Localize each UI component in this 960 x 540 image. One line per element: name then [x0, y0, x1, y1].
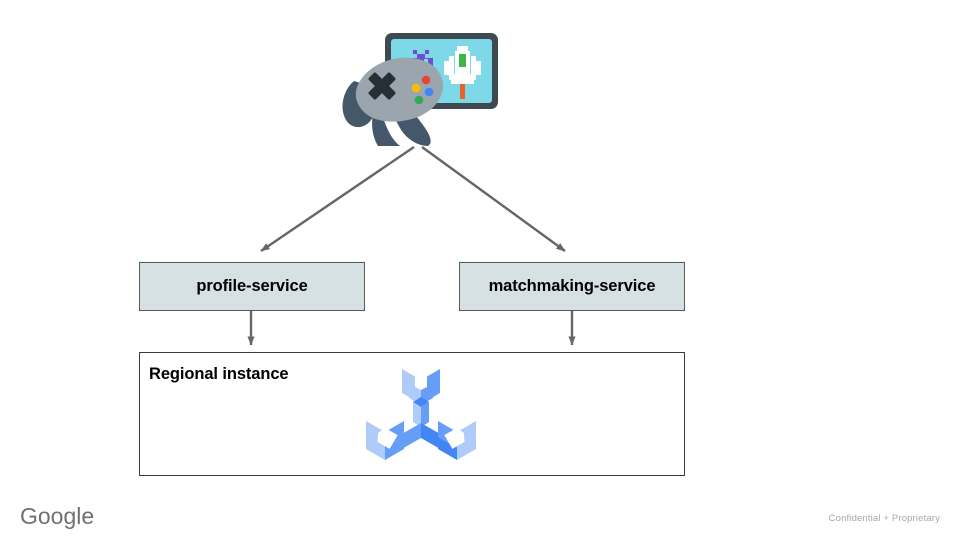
- button-blue: [425, 88, 434, 97]
- google-wordmark: Google: [20, 505, 94, 528]
- edge-game-client-to-profile-service: [261, 147, 414, 251]
- regional-instance-label: Regional instance: [149, 365, 289, 384]
- button-green: [415, 96, 424, 105]
- matchmaking-service-label: matchmaking-service: [489, 277, 656, 296]
- slide-canvas: profile-service matchmaking-service Regi…: [0, 0, 960, 540]
- node-profile-service[interactable]: profile-service: [139, 262, 365, 311]
- server-icon-hub: [400, 397, 442, 450]
- rocket-window: [459, 54, 466, 67]
- edge-game-client-to-matchmaking-service: [422, 147, 565, 251]
- rocket-flame: [460, 84, 465, 99]
- button-yellow: [412, 84, 421, 93]
- node-regional-instance[interactable]: Regional instance: [139, 352, 685, 476]
- button-red: [422, 76, 431, 85]
- game-controller-and-screen-icon: [338, 28, 504, 146]
- game-servers-icon: [362, 365, 480, 463]
- node-matchmaking-service[interactable]: matchmaking-service: [459, 262, 685, 311]
- confidential-proprietary-note: Confidential + Proprietary: [829, 513, 940, 524]
- profile-service-label: profile-service: [196, 277, 307, 296]
